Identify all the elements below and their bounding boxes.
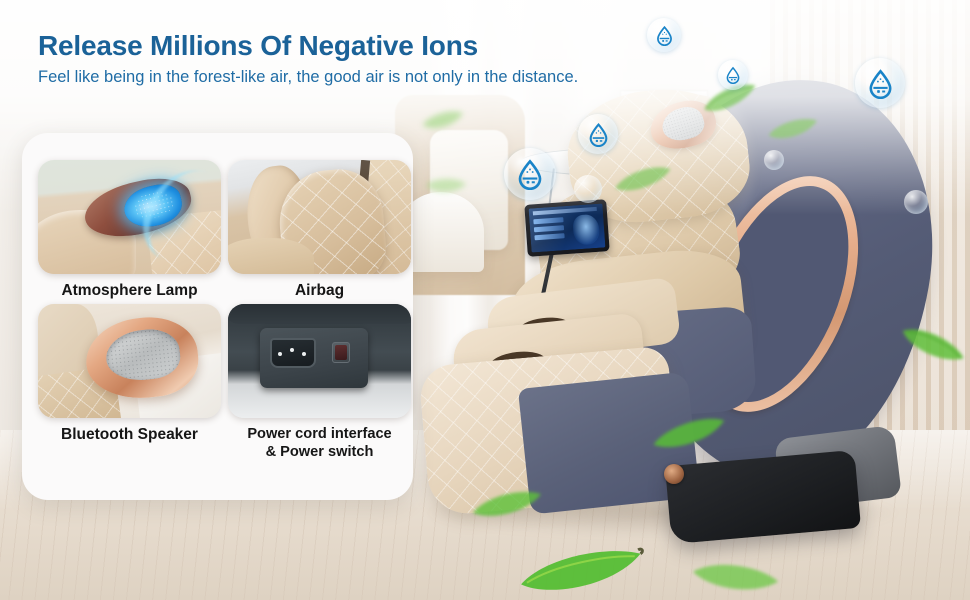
- negative-ion-icon: [504, 148, 556, 200]
- water-droplet-plus-minus-icon: [654, 25, 675, 46]
- power-panel-floor: [228, 384, 411, 418]
- empty-ion-bubble: [904, 190, 928, 214]
- feature-label-line2: & Power switch: [266, 444, 374, 460]
- feature-thumbnail-grid: Atmosphere Lamp Airbag: [38, 160, 398, 461]
- water-droplet-plus-minus-icon: [586, 122, 611, 147]
- airbag-lower-cushion: [228, 238, 314, 274]
- negative-ion-icon: [647, 18, 681, 52]
- promo-banner: Release Millions Of Negative Ions Feel l…: [0, 0, 970, 600]
- feature-label: Atmosphere Lamp: [38, 282, 221, 300]
- page-subtitle: Feel like being in the forest-like air, …: [38, 68, 578, 87]
- feature-item[interactable]: Bluetooth Speaker: [38, 304, 228, 460]
- lamp-light-arc: [134, 160, 221, 273]
- atmosphere-lamp-thumbnail[interactable]: [38, 160, 221, 274]
- feature-item[interactable]: Airbag: [228, 160, 418, 300]
- feature-item[interactable]: Atmosphere Lamp: [38, 160, 228, 300]
- feature-label: Power cord interface & Power switch: [228, 426, 411, 460]
- page-title: Release Millions Of Negative Ions: [38, 30, 478, 62]
- empty-ion-bubble: [764, 150, 784, 170]
- power-panel-housing: [228, 304, 411, 324]
- tablet-body-diagram: [572, 214, 600, 246]
- tablet-menu-row: [534, 233, 564, 240]
- ion-bubble: [504, 148, 556, 200]
- bluetooth-speaker-thumbnail[interactable]: [38, 304, 221, 418]
- negative-ion-icon: [855, 58, 905, 108]
- water-droplet-plus-minus-icon: [724, 66, 742, 84]
- feature-label: Airbag: [228, 282, 411, 300]
- feature-label: Bluetooth Speaker: [38, 426, 221, 444]
- ion-bubble: [718, 60, 748, 90]
- power-cord-interface-thumbnail[interactable]: [228, 304, 411, 418]
- water-droplet-plus-minus-icon: [865, 68, 896, 99]
- empty-ion-bubble: [574, 175, 602, 203]
- negative-ion-icon: [578, 114, 618, 154]
- tablet-menu-row: [534, 225, 564, 232]
- feature-card: Atmosphere Lamp Airbag: [22, 133, 413, 500]
- tablet-menu-row: [533, 217, 563, 224]
- ion-bubble: [764, 150, 784, 170]
- feature-label-line1: Power cord interface: [247, 426, 391, 442]
- ion-bubble: [578, 114, 618, 154]
- ion-bubble: [855, 58, 905, 108]
- ion-bubble: [574, 175, 602, 203]
- chair-base: [665, 450, 861, 544]
- feature-item[interactable]: Power cord interface & Power switch: [228, 304, 418, 460]
- airbag-thumbnail[interactable]: [228, 160, 411, 274]
- iec-power-socket: [270, 338, 316, 368]
- negative-ion-icon: [718, 60, 748, 90]
- ion-bubble: [647, 18, 681, 52]
- water-droplet-plus-minus-icon: [514, 158, 546, 190]
- ion-bubble: [904, 190, 928, 214]
- chair-hinge: [664, 464, 684, 484]
- power-switch-red-face: [335, 345, 347, 360]
